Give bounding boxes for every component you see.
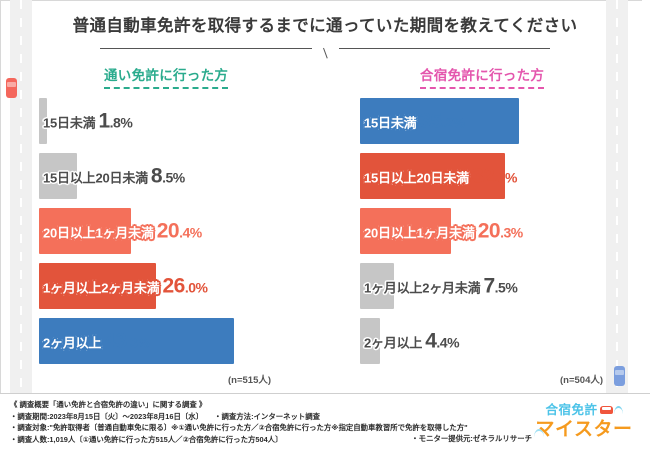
right-edge-strip <box>642 0 650 450</box>
bar-value-label: 20.4% <box>157 221 202 242</box>
survey-summary: 《 調査概要「通い免許と合宿免許の違い」に関する調査 》 ・調査期間:2023年… <box>10 399 468 445</box>
sample-size-kayoi: (n=515人) <box>228 372 271 386</box>
bar-row: 15日未満35.2% <box>360 98 618 144</box>
infographic-page: 普通自動車免許を取得するまでに通っていた期間を教えてください 通い免許に行った方… <box>0 0 650 450</box>
column-header-kayoi: 通い免許に行った方 <box>104 64 228 89</box>
title-divider <box>100 44 550 56</box>
bar-row: 20日以上1ヶ月未満20.3% <box>360 208 618 254</box>
bar-row: 2ヶ月以上43.3% <box>39 318 339 364</box>
road-decoration-left <box>10 0 32 450</box>
brand-logo[interactable]: 合宿免許 マイスター <box>532 402 636 439</box>
survey-line-1: 《 調査概要「通い免許と合宿免許の違い」に関する調査 》 <box>10 399 468 411</box>
bar-category-label: 15日未満 <box>364 117 416 130</box>
column-header-kayoi-label: 通い免許に行った方 <box>104 68 228 83</box>
survey-footer: 《 調査概要「通い免許と合宿免許の違い」に関する調査 》 ・調査期間:2023年… <box>0 393 650 450</box>
bar-row: 15日以上20日未満32.3% <box>360 153 618 199</box>
bar-category-label: 1ヶ月以上2ヶ月未満 <box>364 282 480 295</box>
bar-category-label: 2ヶ月以上 <box>43 337 101 350</box>
bar-chart-kayoi: 15日未満1.8%15日以上20日未満8.5%20日以上1ヶ月未満20.4%1ヶ… <box>39 98 339 373</box>
bar-value-label: 35.2% <box>419 111 464 132</box>
bar-category-label: 2ヶ月以上 <box>364 337 422 350</box>
bar-row: 15日以上20日未満8.5% <box>39 153 339 199</box>
bar-label: 15日以上20日未満32.3% <box>364 166 517 187</box>
bar-value-label: 7.5% <box>483 276 517 297</box>
bar-value-label: 4.4% <box>425 331 459 352</box>
bar-row: 1ヶ月以上2ヶ月未満7.5% <box>360 263 618 309</box>
bar-label: 1ヶ月以上2ヶ月未満26.0% <box>43 276 207 297</box>
bar-category-label: 20日以上1ヶ月未満 <box>364 227 475 240</box>
bar-label: 20日以上1ヶ月未満20.4% <box>43 221 202 242</box>
survey-line-4: ・調査人数:1,019人〔①通い免許に行った方515人／②合宿免許に行った方50… <box>10 434 468 446</box>
column-header-gasshuku: 合宿免許に行った方 <box>420 64 544 89</box>
bar-row: 1ヶ月以上2ヶ月未満26.0% <box>39 263 339 309</box>
sample-size-gasshuku: (n=504人) <box>560 372 603 386</box>
bar-row: 15日未満1.8% <box>39 98 339 144</box>
bar-category-label: 1ヶ月以上2ヶ月未満 <box>43 282 159 295</box>
bar-value-label: 1.8% <box>98 111 132 132</box>
bar-label: 2ヶ月以上4.4% <box>364 331 459 352</box>
brand-logo-line1: 合宿免許 <box>545 404 597 417</box>
bar-value-label: 26.0% <box>162 276 207 297</box>
survey-monitor-source: ・モニター提供元:ゼネラルリサーチ <box>411 433 532 444</box>
bar-chart-gasshuku: 15日未満35.2%15日以上20日未満32.3%20日以上1ヶ月未満20.3%… <box>360 98 618 373</box>
bar-category-label: 15日以上20日未満 <box>364 172 469 185</box>
bar-label: 15日未満35.2% <box>364 111 464 132</box>
bar-category-label: 15日以上20日未満 <box>43 172 148 185</box>
bar-row: 2ヶ月以上4.4% <box>360 318 618 364</box>
bar-label: 20日以上1ヶ月未満20.3% <box>364 221 523 242</box>
bar-value-label: 20.3% <box>478 221 523 242</box>
brand-logo-line2: マイスター <box>532 420 636 439</box>
bar-label: 2ヶ月以上43.3% <box>43 331 149 352</box>
bar-value-label: 43.3% <box>104 331 149 352</box>
title-divider-right <box>339 48 551 49</box>
bar-label: 15日未満1.8% <box>43 111 132 132</box>
road-dash-left <box>20 0 22 450</box>
bar-row: 20日以上1ヶ月未満20.4% <box>39 208 339 254</box>
bar-value-label: 32.3% <box>472 166 517 187</box>
survey-line-2: ・調査期間:2023年8月15日〔火〕〜2023年8月16日〔水〕 ・調査方法:… <box>10 411 468 423</box>
car-icon-logo <box>600 406 613 414</box>
column-header-kayoi-underline <box>104 87 228 89</box>
bar-label: 1ヶ月以上2ヶ月未満7.5% <box>364 276 517 297</box>
title-divider-left <box>100 48 312 49</box>
column-header-gasshuku-label: 合宿免許に行った方 <box>420 68 544 83</box>
car-icon-red <box>6 78 17 98</box>
column-header-gasshuku-underline <box>420 87 544 89</box>
survey-line-3: ・調査対象:"免許取得者〔普通自動車免に限る〕※①通い免許に行った方／②合宿免許… <box>10 422 468 434</box>
page-title: 普通自動車免許を取得するまでに通っていた期間を教えてください <box>0 12 650 36</box>
bar-label: 15日以上20日未満8.5% <box>43 166 185 187</box>
bar-category-label: 15日未満 <box>43 117 95 130</box>
bar-category-label: 20日以上1ヶ月未満 <box>43 227 154 240</box>
arc-decoration-icon <box>614 406 623 414</box>
bar-value-label: 8.5% <box>151 166 185 187</box>
